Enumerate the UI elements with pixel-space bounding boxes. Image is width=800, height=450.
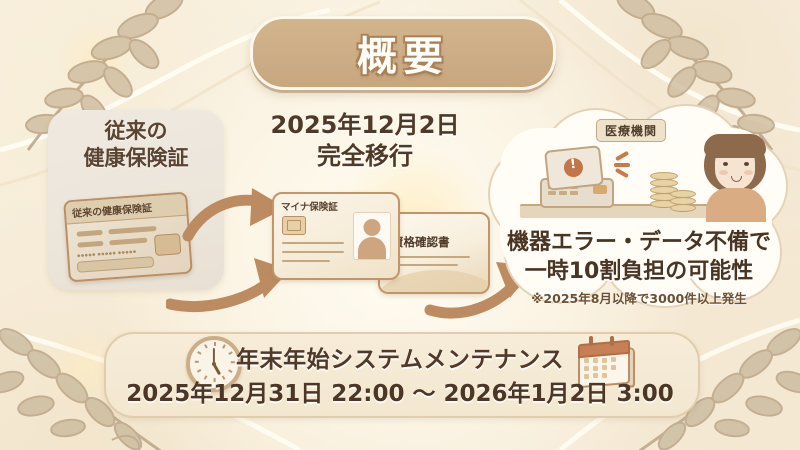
patient-blush-left — [719, 170, 728, 175]
transition-heading-line1: 2025年12月2日 — [250, 110, 480, 141]
infographic-canvas: 概要 従来の 健康保険証 従来の健康保険証 ●●●●● ●●●●● ●●●●● … — [0, 0, 800, 450]
risk-alert-footnote: ※2025年8月以降で3000件以上発生 — [486, 288, 792, 307]
legacy-card-chip — [154, 233, 181, 256]
patient-eye-left — [723, 162, 728, 166]
risk-alert-text: 機器エラー・データ不備で 一時10割負担の可能性 — [486, 228, 792, 286]
error-exclamation-icon — [563, 157, 584, 178]
maintenance-period: 2025年12月31日 22:00 〜 2026年1月2日 3:00 — [104, 374, 696, 408]
mynumber-card-line-1 — [282, 242, 344, 244]
maintenance-heading: 年末年始システムメンテナンス — [104, 340, 696, 374]
legacy-insurance-card-illustration: 従来の健康保険証 ●●●●● ●●●●● ●●●●● — [63, 192, 193, 283]
eligibility-card-label: 資格確認書 — [392, 234, 450, 250]
legacy-panel-heading: 従来の 健康保険証 — [48, 118, 224, 172]
title-banner: 概要 — [250, 16, 556, 90]
legacy-heading-line1: 従来の — [48, 118, 224, 145]
legacy-card-band: 従来の健康保険証 — [65, 194, 186, 225]
legacy-card-magstripe — [77, 256, 155, 273]
legacy-card-label: 従来の健康保険証 — [72, 199, 153, 220]
mynumber-card-line-3 — [282, 260, 330, 262]
reader-enter-key — [593, 185, 607, 194]
mynumber-insurance-card: マイナ保険証 — [272, 192, 400, 280]
legacy-heading-line2: 健康保険証 — [48, 145, 224, 172]
ic-chip-icon — [282, 216, 306, 235]
card-portrait-photo — [353, 212, 391, 260]
reader-screen — [544, 145, 604, 191]
risk-alert-line1: 機器エラー・データ不備で — [486, 228, 792, 257]
legacy-card-line-2 — [108, 226, 156, 235]
transition-heading-line2: 完全移行 — [250, 141, 480, 172]
eligibility-card-line-2 — [392, 264, 458, 266]
legacy-card-line-4 — [109, 238, 147, 246]
portrait-head — [364, 219, 381, 236]
worried-patient-illustration — [700, 134, 772, 214]
patient-blush-right — [744, 170, 753, 175]
portrait-body — [358, 237, 386, 259]
mynumber-card-line-2 — [282, 251, 344, 253]
card-reader-illustration — [540, 148, 612, 206]
eligibility-card-line-1 — [392, 256, 470, 258]
risk-alert-line2: 一時10割負担の可能性 — [486, 257, 792, 286]
error-flash-icon — [613, 152, 639, 178]
transition-heading: 2025年12月2日 完全移行 — [250, 110, 480, 172]
glow-left — [52, 20, 142, 100]
legacy-card-line-1 — [76, 230, 102, 237]
mynumber-card-label: マイナ保険証 — [281, 199, 338, 213]
patient-torso — [706, 188, 766, 222]
legacy-card-microtext: ●●●●● ●●●●● ●●●●● — [77, 249, 137, 257]
medical-institution-tag: 医療機関 — [596, 119, 666, 142]
coins-stack-illustration — [648, 170, 698, 210]
legacy-card-line-3 — [77, 241, 103, 248]
page-title: 概要 — [357, 24, 449, 82]
patient-fringe — [704, 134, 766, 158]
patient-eye-right — [744, 162, 749, 166]
